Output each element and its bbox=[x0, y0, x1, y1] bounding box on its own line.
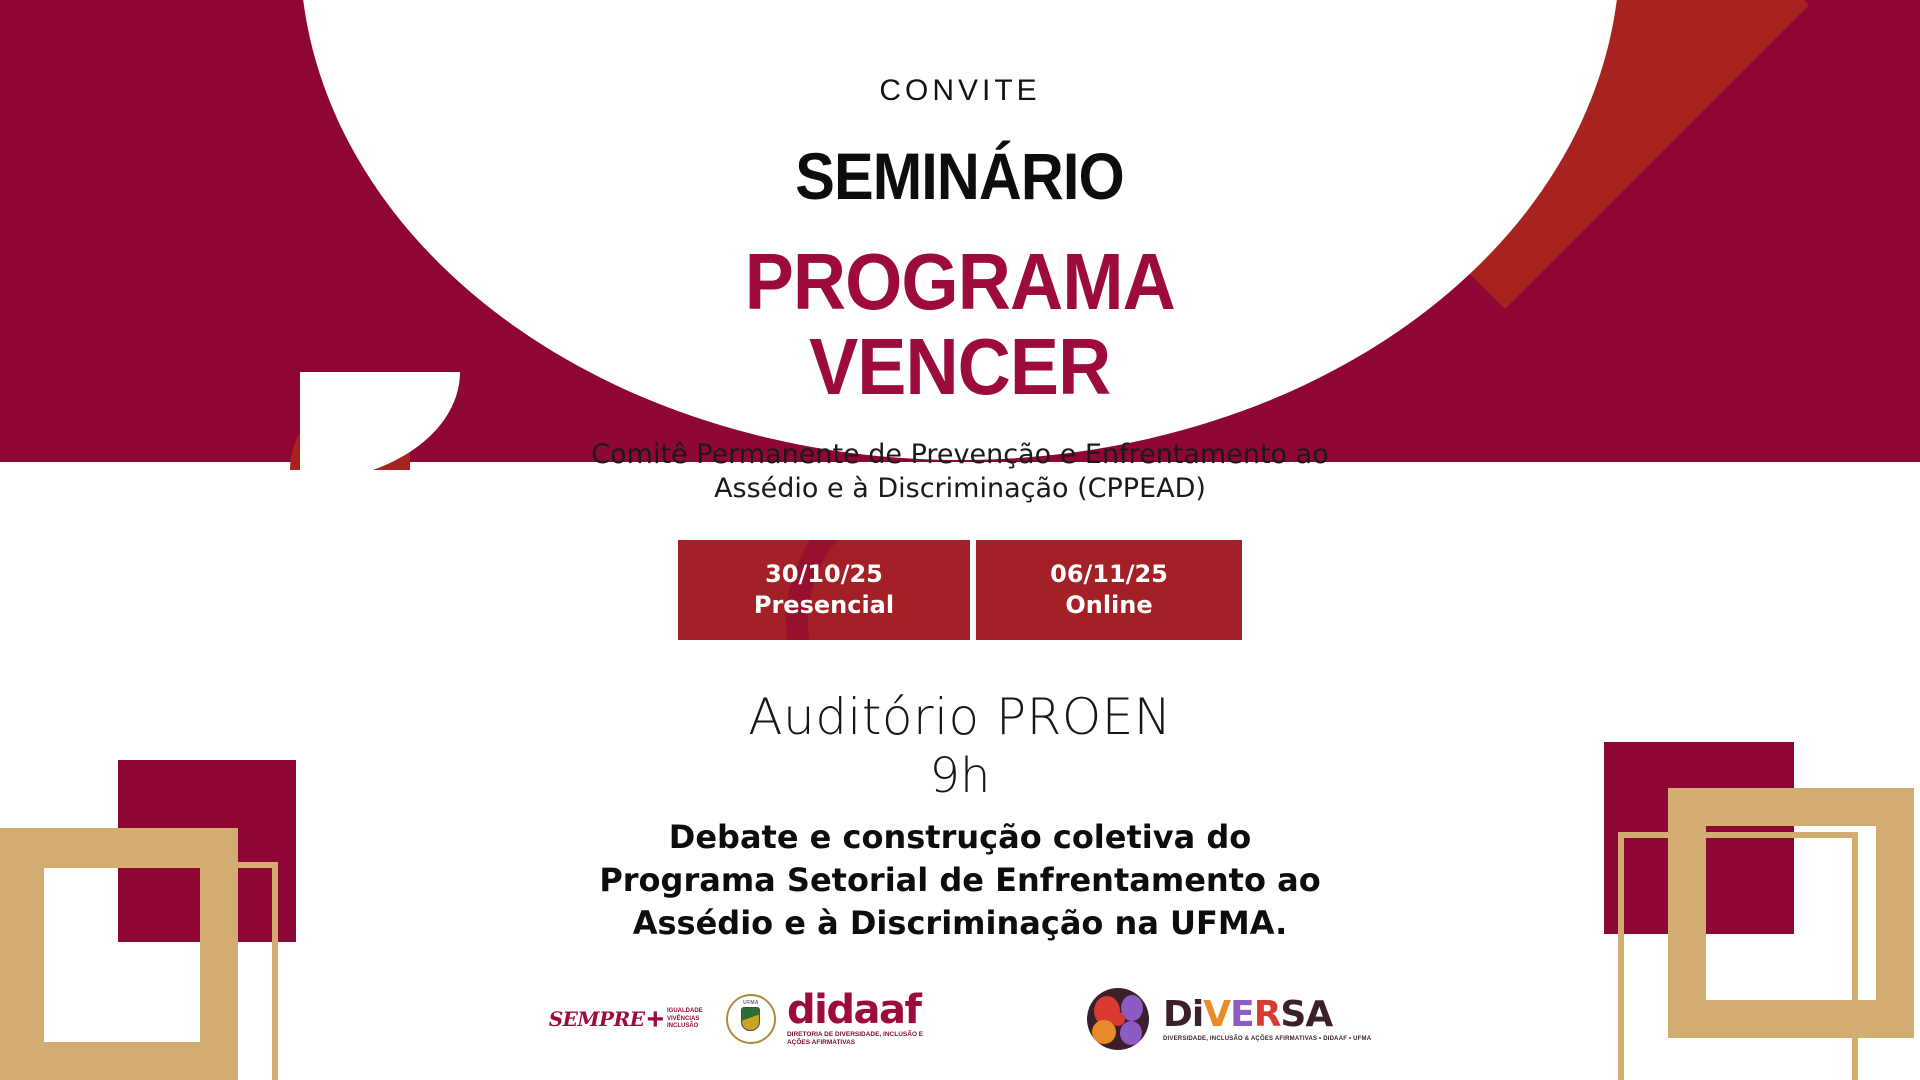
didaaf-logo-group: SEMPRE + IGUALDADE VIVÊNCIAS INCLUSÃO UF… bbox=[549, 992, 937, 1047]
diversa-tree-icon bbox=[1087, 988, 1149, 1050]
event-poster: CONVITE SEMINÁRIO PROGRAMA VENCER Comitê… bbox=[0, 0, 1920, 1080]
diversa-letter-r: R bbox=[1254, 994, 1281, 1035]
badge-date-2: 06/11/25 bbox=[1006, 559, 1212, 590]
committee-subtitle-line-2: Assédio e à Discriminação (CPPEAD) bbox=[591, 472, 1328, 506]
diversa-leaf-purple-bottom bbox=[1120, 1021, 1142, 1045]
sempre-wordmark: SEMPRE bbox=[549, 1007, 645, 1031]
diversa-letter-s: S bbox=[1280, 994, 1305, 1035]
date-badge-group: 30/10/25 Presencial 06/11/25 Online bbox=[678, 540, 1242, 639]
logo-row: SEMPRE + IGUALDADE VIVÊNCIAS INCLUSÃO UF… bbox=[549, 988, 1372, 1050]
didaaf-wordmark: didaaf bbox=[787, 992, 937, 1029]
diversa-letter-d: D bbox=[1163, 994, 1192, 1035]
venue-name: Auditório PROEN bbox=[748, 688, 1171, 746]
ufma-crest-label: UFMA bbox=[743, 1000, 759, 1006]
sempre-plus-icon: + bbox=[646, 1009, 664, 1030]
diversa-text-block: DiVERSA DIVERSIDADE, INCLUSÃO & AÇÕES AF… bbox=[1163, 997, 1371, 1042]
program-title-line-1: PROGRAMA bbox=[745, 240, 1175, 323]
committee-subtitle-line-1: Comitê Permanente de Prevenção e Enfrent… bbox=[591, 438, 1328, 472]
badge-mode-1: Presencial bbox=[708, 590, 940, 621]
description-line-2: Programa Setorial de Enfrentamento ao bbox=[599, 859, 1320, 902]
diversa-letter-e: E bbox=[1230, 994, 1254, 1035]
description-line-3: Assédio e à Discriminação na UFMA. bbox=[599, 902, 1320, 945]
diversa-letter-a: A bbox=[1305, 994, 1332, 1035]
event-time: 9h bbox=[930, 748, 991, 804]
seminar-label: SEMINÁRIO bbox=[796, 138, 1125, 214]
date-badge-online: 06/11/25 Online bbox=[976, 540, 1242, 639]
diversa-letter-i: i bbox=[1192, 994, 1203, 1035]
diversa-wordmark: DiVERSA bbox=[1163, 997, 1371, 1033]
sempre-tagline: IGUALDADE VIVÊNCIAS INCLUSÃO bbox=[667, 1008, 719, 1030]
ufma-crest-icon: UFMA bbox=[726, 994, 776, 1044]
date-badge-presencial: 30/10/25 Presencial bbox=[678, 540, 970, 639]
didaaf-tagline: DIRETORIA DE DIVERSIDADE, INCLUSÃO E AÇÕ… bbox=[787, 1031, 937, 1047]
ufma-shield-icon bbox=[741, 1007, 760, 1031]
committee-subtitle: Comitê Permanente de Prevenção e Enfrent… bbox=[591, 438, 1328, 506]
diversa-logo-group: DiVERSA DIVERSIDADE, INCLUSÃO & AÇÕES AF… bbox=[1087, 988, 1371, 1050]
invitation-kicker: CONVITE bbox=[879, 74, 1040, 108]
didaaf-text-block: didaaf DIRETORIA DE DIVERSIDADE, INCLUSÃ… bbox=[787, 992, 937, 1047]
badge-mode-2: Online bbox=[1006, 590, 1212, 621]
poster-content: CONVITE SEMINÁRIO PROGRAMA VENCER Comitê… bbox=[0, 0, 1920, 1080]
program-title-line-2: VENCER bbox=[809, 325, 1110, 408]
description-line-1: Debate e construção coletiva do bbox=[599, 816, 1320, 859]
event-description: Debate e construção coletiva do Programa… bbox=[599, 816, 1320, 945]
diversa-letter-v: V bbox=[1203, 994, 1230, 1035]
diversa-tagline: DIVERSIDADE, INCLUSÃO & AÇÕES AFIRMATIVA… bbox=[1163, 1036, 1371, 1042]
badge-date-1: 30/10/25 bbox=[708, 559, 940, 590]
